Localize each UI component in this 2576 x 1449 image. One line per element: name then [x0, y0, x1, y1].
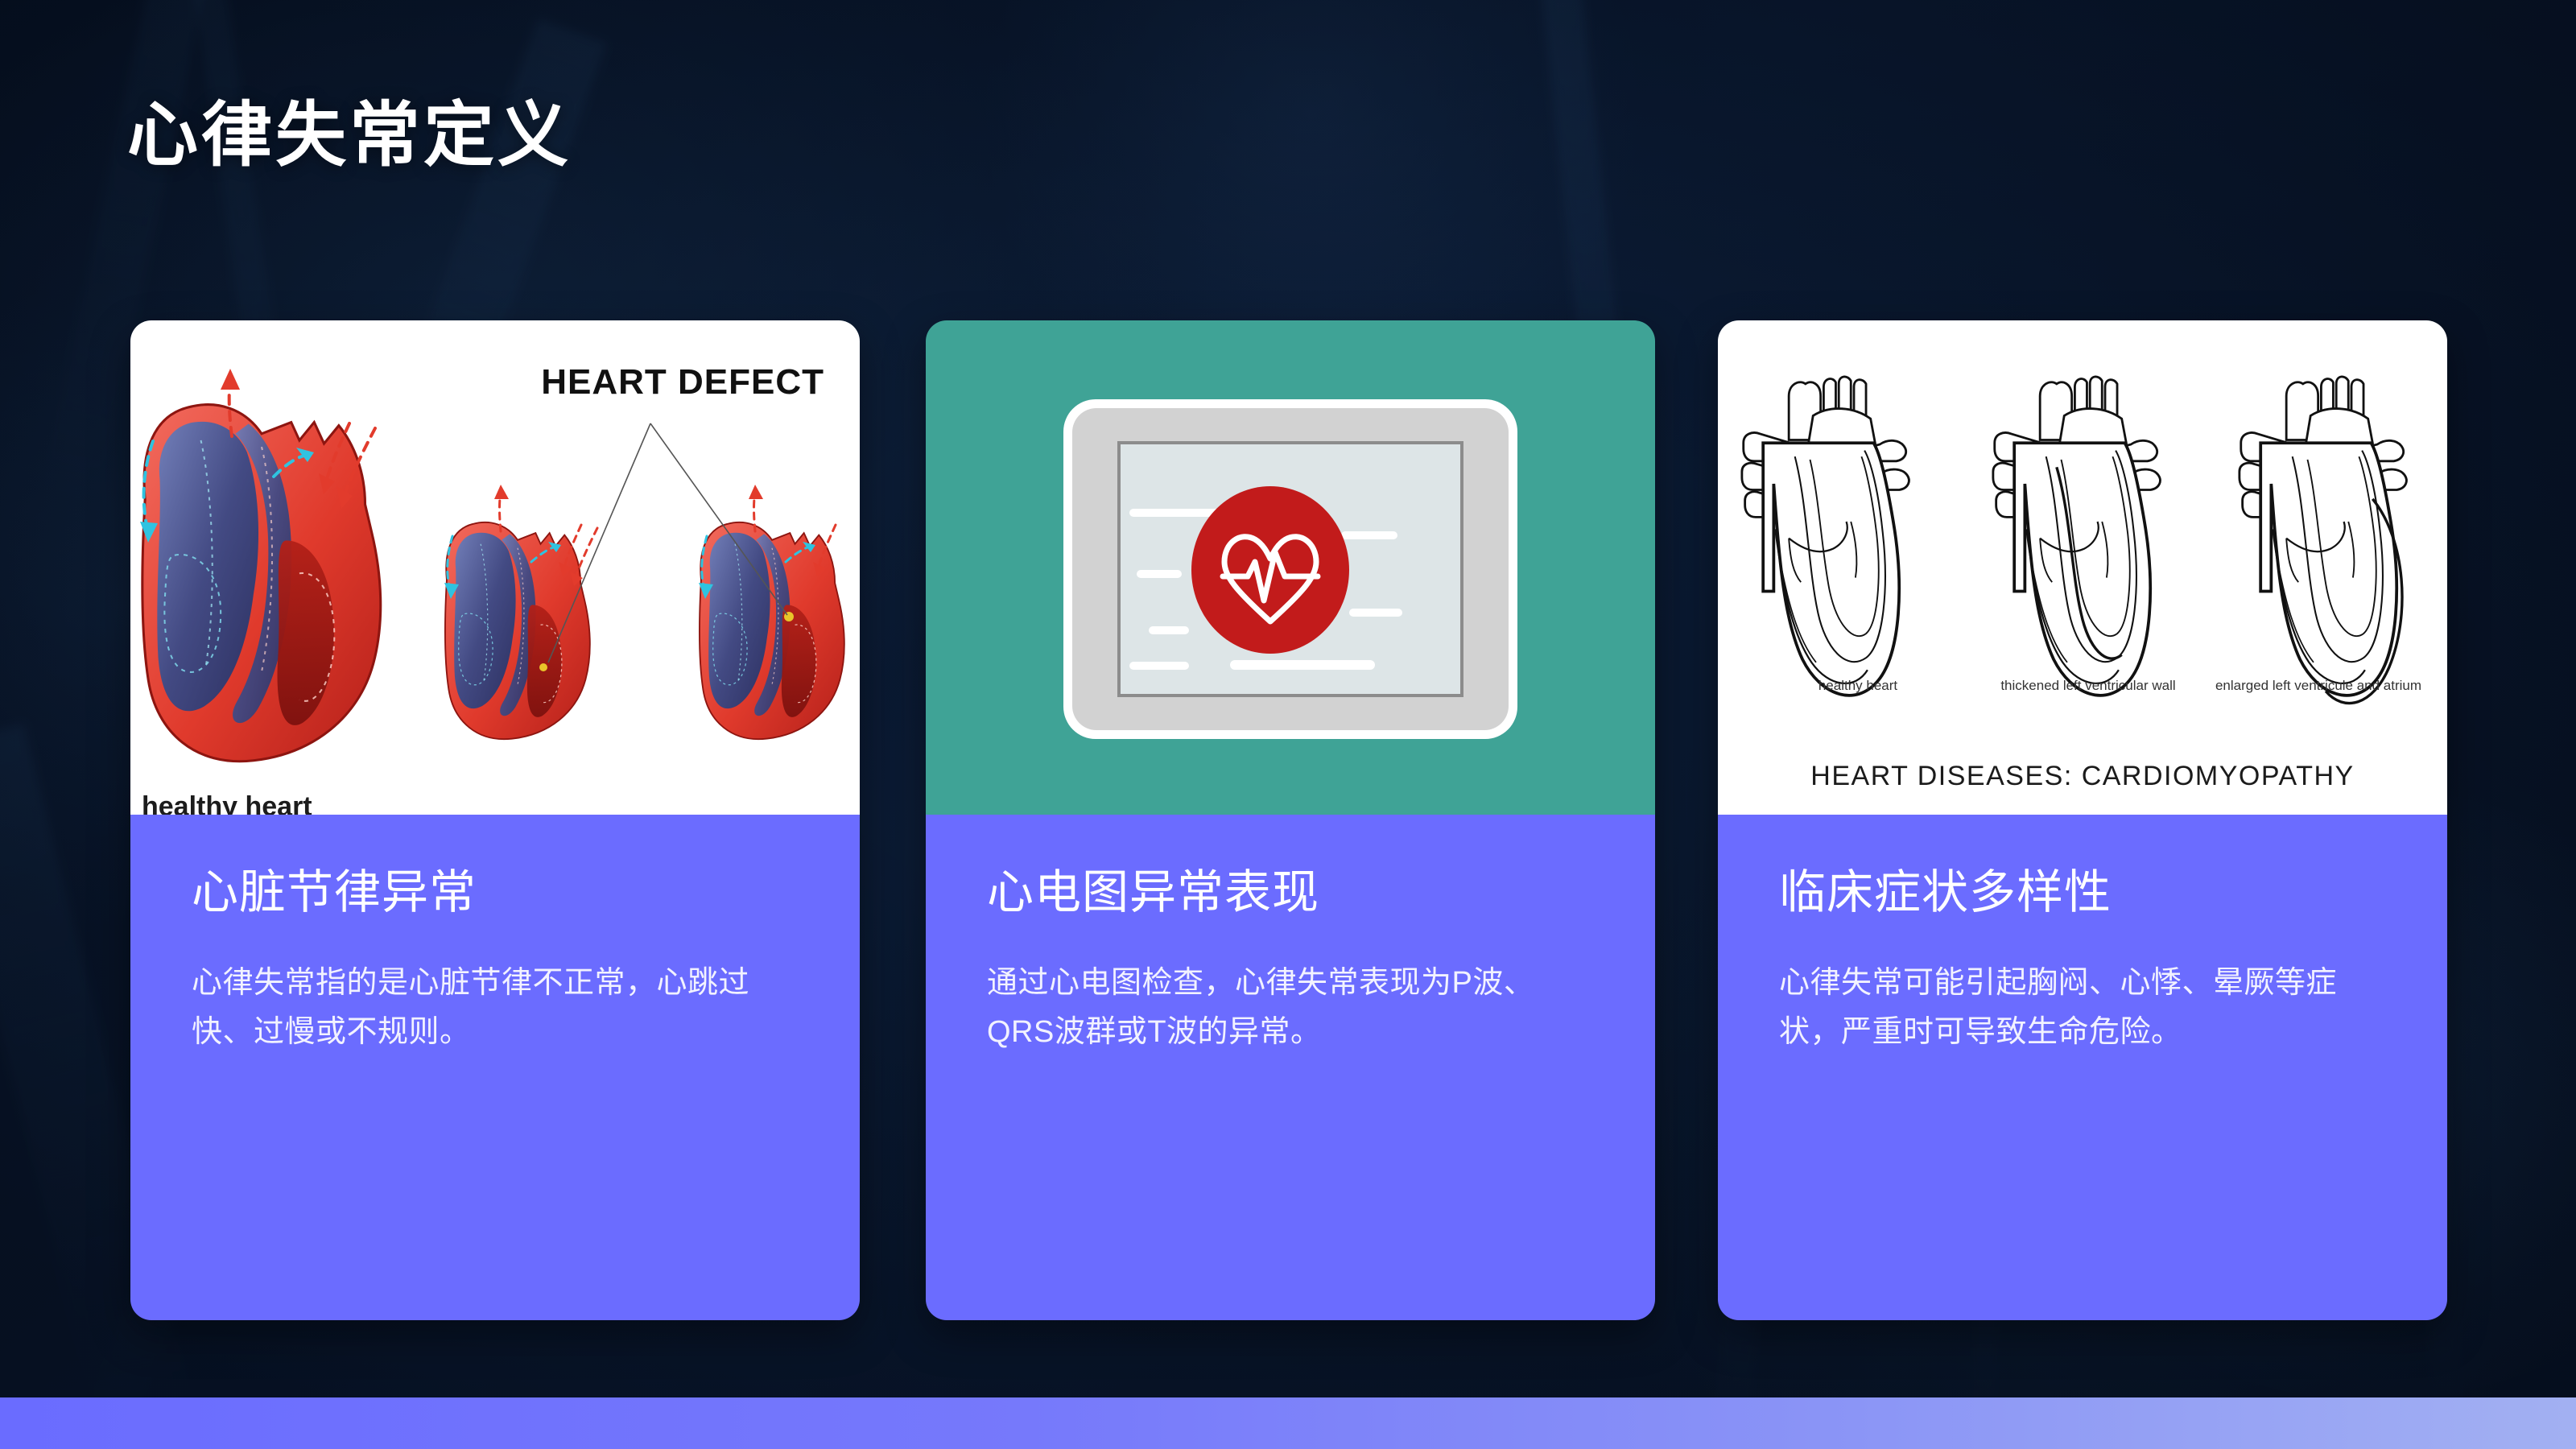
- caption-thickened-wall: thickened left ventricular wall: [1967, 678, 2209, 694]
- bottom-accent-bar: [0, 1397, 2576, 1449]
- card-heading: 心电图异常表现: [987, 866, 1594, 920]
- card-text: 通过心电图检查，心律失常表现为P波、QRS波群或T波的异常。: [987, 959, 1594, 1058]
- card-ecg-abnormality[interactable]: 心电图异常表现 通过心电图检查，心律失常表现为P波、QRS波群或T波的异常。: [926, 320, 1655, 1320]
- heart-healthy: [1742, 377, 1909, 696]
- card-heading: 心脏节律异常: [192, 866, 799, 920]
- heart-defect-label: HEART DEFECT: [541, 362, 824, 402]
- card-text: 心律失常可能引起胸闷、心悸、晕厥等症状，严重时可导致生命危险。: [1779, 959, 2386, 1058]
- ecg-report-icon: [926, 320, 1655, 815]
- card-media-ecg-report: [926, 320, 1655, 815]
- healthy-heart-caption: healthy heart: [142, 791, 312, 815]
- heart-thickened: [1993, 377, 2161, 696]
- card-body: 心脏节律异常 心律失常指的是心脏节律不正常，心跳过快、过慢或不规则。: [130, 815, 860, 1320]
- card-body: 临床症状多样性 心律失常可能引起胸闷、心悸、晕厥等症状，严重时可导致生命危险。: [1718, 815, 2447, 1320]
- card-clinical-symptoms[interactable]: healthy heart thickened left ventricular…: [1718, 320, 2447, 1320]
- card-body: 心电图异常表现 通过心电图检查，心律失常表现为P波、QRS波群或T波的异常。: [926, 815, 1655, 1320]
- cardiomyopathy-line-art: [1718, 320, 2447, 815]
- card-text: 心律失常指的是心脏节律不正常，心跳过快、过慢或不规则。: [192, 959, 799, 1058]
- cardiomyopathy-title: HEART DISEASES: CARDIOMYOPATHY: [1718, 761, 2447, 792]
- card-media-cardiomyopathy: healthy heart thickened left ventricular…: [1718, 320, 2447, 815]
- heart-enlarged: [2240, 377, 2407, 704]
- card-media-anatomical-heart: HEART DEFECT healthy heart: [130, 320, 860, 815]
- caption-enlarged-ventricle: enlarged left ventricule and atrium: [2198, 678, 2439, 694]
- page-title: 心律失常定义: [127, 97, 572, 175]
- caption-healthy-heart: healthy heart: [1737, 678, 1979, 694]
- card-heart-rhythm[interactable]: HEART DEFECT healthy heart 心脏节律异常 心律失常指的…: [130, 320, 860, 1320]
- card-heading: 临床症状多样性: [1779, 866, 2386, 920]
